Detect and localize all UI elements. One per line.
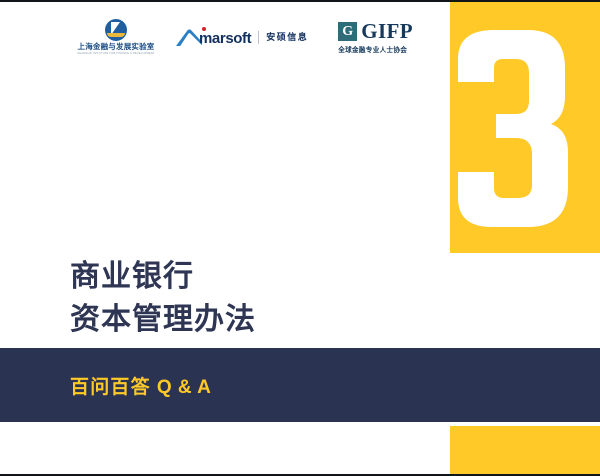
logo-gifp-name-cn: 全球金融专业人士协会 [338,44,407,54]
marsoft-red-dot-icon [202,27,206,31]
subtitle-band: 百问百答Q & A [0,348,600,422]
logo-divider [258,31,259,44]
page-title: 商业银行资本管理办法 [70,256,400,341]
logo-marsoft-name-cn: 安硕信息 [266,33,308,42]
footer-accent-block [450,426,600,474]
partner-logo-bar: 上海金融与发展实验室 SHANGHAI INSTITUTE FOR FINANC… [70,14,420,60]
marsoft-wordmark-text: marsoft [199,30,251,47]
page-title-line1: 商业银行 [70,260,194,293]
logo-sifd: 上海金融与发展实验室 SHANGHAI INSTITUTE FOR FINANC… [70,14,162,60]
sailboat-emblem-icon [105,19,127,41]
page-title-line2: 资本管理办法 [70,303,256,336]
marsoft-lockup: marsoft [176,29,251,46]
marsoft-wordmark: marsoft [199,31,251,46]
subtitle-text: 百问百答Q & A [70,372,211,399]
subtitle-en: Q & A [157,377,212,398]
logo-sifd-name-cn: 上海金融与发展实验室 [78,43,155,51]
slide-canvas: 上海金融与发展实验室 SHANGHAI INSTITUTE FOR FINANC… [0,0,600,476]
gifp-row: G GIFP [338,21,413,42]
logo-gifp: G GIFP 全球金融专业人士协会 [338,14,413,60]
gifp-wordmark: GIFP [361,21,413,42]
gifp-monogram-icon: G [338,22,357,41]
logo-marsoft: marsoft 安硕信息 [176,14,308,60]
subtitle-cn: 百问百答 [70,377,151,398]
logo-sifd-name-en: SHANGHAI INSTITUTE FOR FINANCE & DEVELOP… [77,52,155,55]
chapter-numeral-block [450,2,600,253]
